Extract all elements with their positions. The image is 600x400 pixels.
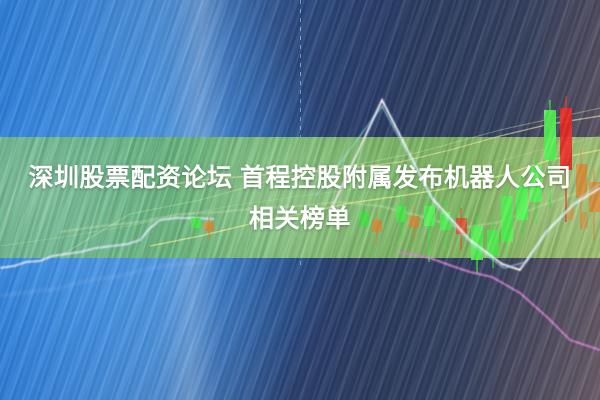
headline-line-2: 相关榜单 — [6, 199, 594, 240]
headline-line-1: 深圳股票配资论坛 首程控股附属发布机器人公司 — [29, 164, 572, 192]
stock-market-banner-image: 深圳股票配资论坛 首程控股附属发布机器人公司 相关榜单 — [0, 0, 600, 400]
page-title: 深圳股票配资论坛 首程控股附属发布机器人公司 相关榜单 — [0, 158, 600, 240]
